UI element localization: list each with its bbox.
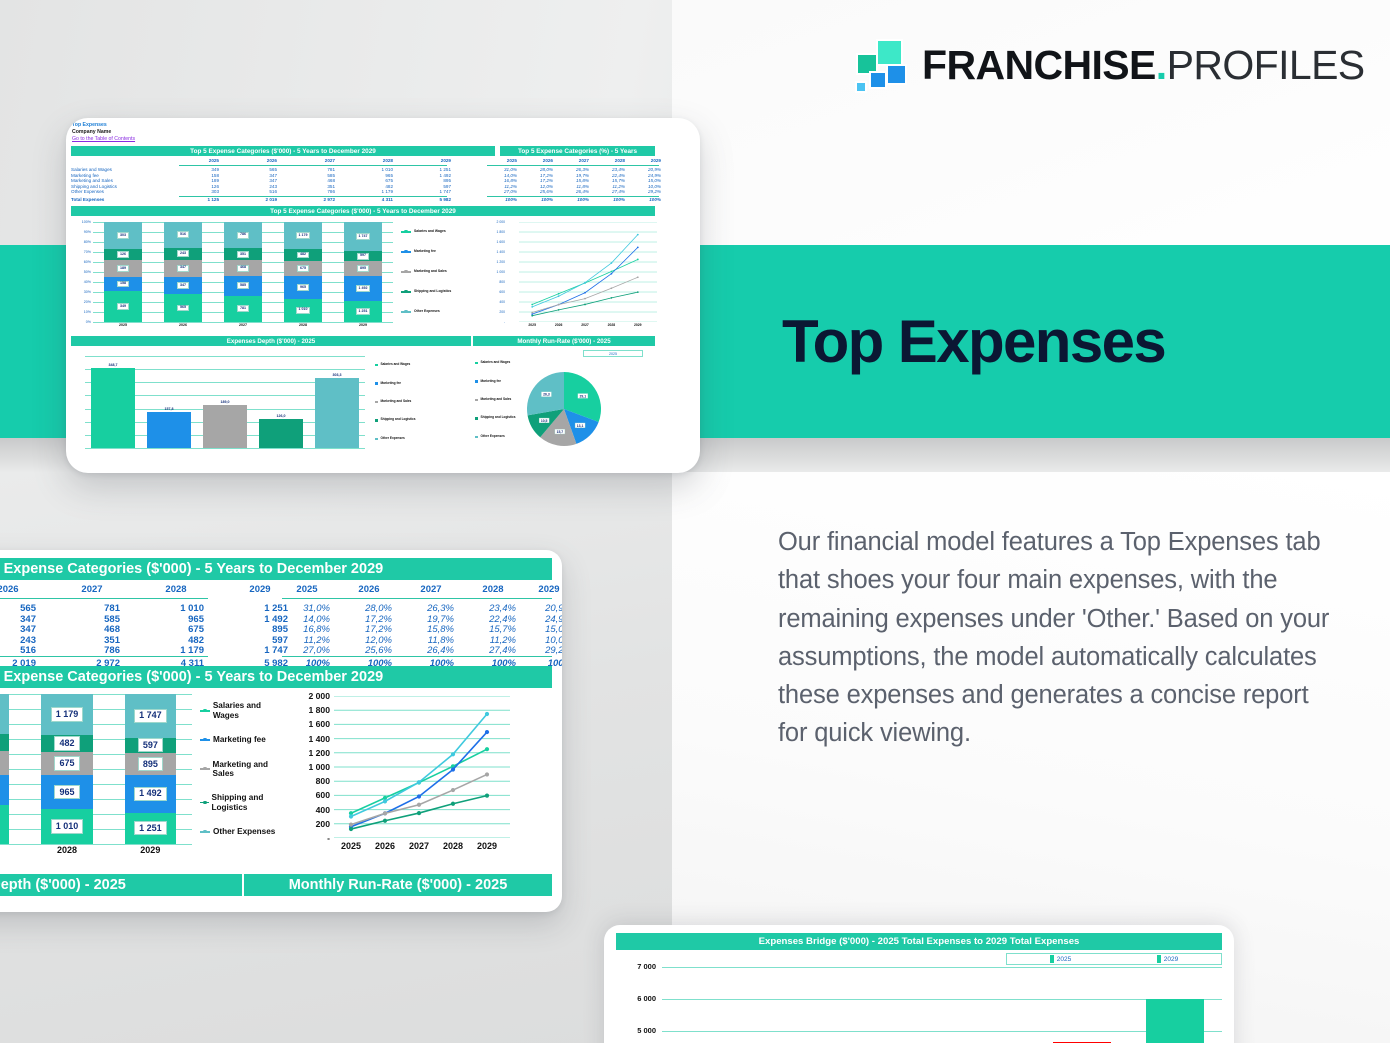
table-cell: 189 (183, 178, 219, 183)
expenses-bridge-waterfall-chart[interactable]: 7 0006 0005 0004 0009027064711 443 (616, 967, 1222, 1043)
svg-text:13,1: 13,1 (577, 424, 584, 428)
bar[interactable] (203, 405, 247, 448)
data-label: 349 (117, 303, 128, 310)
stack-segment: 781 (224, 296, 261, 322)
legend-item[interactable]: 2029 (1114, 954, 1221, 964)
legend-label: Shipping and Logistics (212, 793, 289, 812)
pct-cell: 17,2% (527, 178, 553, 183)
data-label: 597 (357, 253, 368, 260)
bar[interactable] (91, 368, 135, 448)
band-expenses-depth-zoom: ses Depth ($'000) - 2025 (0, 874, 242, 896)
data-label: 1 492 (356, 285, 370, 292)
x-tick-label: 2025 (524, 323, 540, 327)
y-tick-label: 400 (491, 300, 505, 304)
table-cell: 1 251 (415, 167, 451, 172)
column-group[interactable]: 1 2511 4928955971 747 (125, 694, 177, 844)
legend-item[interactable]: Salaries and Wages (375, 363, 465, 367)
legend-label: Other Expenses (414, 310, 440, 314)
x-tick-label: 2027 (213, 323, 273, 327)
legend-item[interactable]: Other Expenses (475, 435, 521, 439)
bar-data-label: 126,0 (253, 414, 309, 418)
stacked-column-chart-small[interactable]: 3491581891263035653473472435167815854683… (71, 218, 655, 334)
legend-label: Marketing fee (213, 735, 266, 744)
column-group[interactable]: 1 2511 4928955971 747 (344, 222, 381, 322)
table-cell: 516 (0, 645, 36, 656)
data-label: 565 (177, 305, 188, 312)
row-label: Marketing fee (71, 173, 171, 178)
column-header: 2025 (183, 158, 219, 163)
legend-label: Salaries and Wages (213, 701, 288, 720)
stack-segment: 1 492 (344, 276, 381, 301)
stack-segment: 516 (164, 222, 201, 248)
stack-segment: 482 (41, 735, 93, 752)
pct-cell: 15,7% (599, 178, 625, 183)
gridline (662, 999, 1222, 1000)
pct-column-header: 2027 (563, 158, 589, 163)
legend-item[interactable]: Other Expenses (401, 310, 491, 314)
table-cell: 1 747 (232, 645, 288, 656)
stack-segment: 565 (164, 294, 201, 322)
data-label: 1 492 (134, 787, 167, 801)
pct-cell: 15,0% (526, 624, 562, 635)
table-cell: 585 (299, 173, 335, 178)
y-tick-label: 1 800 (491, 230, 505, 234)
table-cell: 1 251 (232, 603, 288, 614)
column-group[interactable]: 349158189126303 (104, 222, 141, 322)
y-tick-label: 60% (77, 260, 91, 264)
pct-cell: 29,2% (526, 645, 562, 656)
column-group[interactable]: 781585468351786 (224, 222, 261, 322)
brand-logo: FRANCHISE.PROFILES (852, 38, 1365, 92)
column-header: 2029 (232, 584, 288, 595)
data-label: 482 (54, 736, 79, 750)
band-top5-table: Top 5 Expense Categories ($'000) - 5 Yea… (71, 146, 495, 156)
legend-label: Salaries and Wages (481, 361, 511, 365)
legend-swatch (475, 399, 478, 402)
brand-name-bold: FRANCHISE (922, 42, 1156, 88)
pct-cell: 16,8% (284, 624, 330, 635)
pct-cell: 25,6% (527, 189, 553, 194)
table-cell: 1 010 (357, 167, 393, 172)
y-tick-label: 1 000 (298, 762, 330, 772)
data-label: 965 (54, 785, 79, 799)
pct-cell: 11,2% (284, 635, 330, 646)
stack-segment: 189 (104, 260, 141, 277)
header-rule-pct (487, 165, 659, 166)
svg-text:10,5: 10,5 (541, 419, 548, 423)
data-label: 786 (237, 232, 248, 239)
data-label: 675 (54, 756, 79, 770)
table-cell: 675 (357, 178, 393, 183)
x-tick-label: 2027 (577, 323, 593, 327)
pct-cell: 26,4% (408, 645, 454, 656)
y-tick-label: - (298, 833, 330, 843)
expenses-depth-bar-chart-small[interactable]: 348,7157,8189,0126,0303,3Salaries and Wa… (71, 348, 471, 460)
table-cell: 351 (64, 635, 120, 646)
data-label: 597 (138, 738, 163, 752)
legend-item[interactable]: Shipping and Logistics (475, 416, 521, 420)
legend-label: Marketing and Sales (381, 400, 412, 404)
table-cell: 158 (183, 173, 219, 178)
stack-segment: 1 492 (125, 775, 177, 812)
pct-cell: 22,4% (599, 173, 625, 178)
band-expenses-bridge: Expenses Bridge ($'000) - 2025 Total Exp… (616, 933, 1222, 950)
legend-marker (200, 739, 210, 741)
pct-total-cell: 100% (527, 197, 553, 202)
data-label: 1 251 (356, 308, 370, 315)
table-cell: 303 (183, 189, 219, 194)
data-label: 965 (297, 284, 308, 291)
data-label: 895 (357, 265, 368, 272)
x-tick-label: 2029 (630, 323, 646, 327)
data-label: 585 (237, 282, 248, 289)
pct-cell: 10,0% (635, 184, 661, 189)
legend-swatch (375, 438, 378, 441)
pct-cell: 16,8% (491, 178, 517, 183)
pct-cell: 11,2% (470, 635, 516, 646)
table-cell: 243 (0, 635, 36, 646)
legend-item[interactable]: Other Expenses (375, 437, 465, 441)
sheet-header: Top Expenses Company Name Go to the Tabl… (72, 122, 135, 143)
pct-cell: 19,7% (563, 173, 589, 178)
pct-cell: 27,0% (491, 189, 517, 194)
table-cell: 243 (241, 184, 277, 189)
stack-segment: 895 (344, 261, 381, 276)
column-group[interactable]: 565347347243516 (164, 222, 201, 322)
y-tick-label: 2 000 (298, 691, 330, 701)
y-tick-label: 40% (77, 280, 91, 284)
legend-label: 2029 (1164, 956, 1178, 963)
legend-item[interactable]: Shipping and Logistics (401, 290, 491, 294)
column-group[interactable]: 781585468351786 (0, 694, 9, 844)
chart-legend: Salaries and WagesMarketing feeMarketing… (475, 354, 521, 446)
pct-column-header: 2025 (284, 584, 330, 595)
top5-table-zoom: 2026202720282029202520262027202820295657… (0, 584, 552, 660)
legend-marker (401, 251, 411, 253)
table-cell: 468 (64, 624, 120, 635)
legend-label: Other Expenses (213, 827, 275, 836)
table-cell: 349 (183, 167, 219, 172)
legend-swatch (475, 380, 478, 383)
column-header: 2026 (241, 158, 277, 163)
pct-cell: 31,0% (284, 603, 330, 614)
legend-item[interactable]: Marketing fee (475, 380, 521, 384)
y-tick-label: 600 (491, 290, 505, 294)
table-cell: 516 (241, 189, 277, 194)
x-tick-label: 2029 (109, 845, 192, 855)
brand-wordmark: FRANCHISE.PROFILES (922, 45, 1365, 86)
pct-cell: 17,2% (346, 624, 392, 635)
pct-total-cell: 100% (563, 197, 589, 202)
pct-cell: 15,8% (408, 624, 454, 635)
pct-cell: 26,3% (563, 167, 589, 172)
x-tick-label: 2028 (273, 323, 333, 327)
pct-total-cell: 100% (491, 197, 517, 202)
bar[interactable] (315, 378, 359, 448)
pct-cell: 23,4% (470, 603, 516, 614)
table-cell: 786 (64, 645, 120, 656)
table-cell: 565 (241, 167, 277, 172)
legend-item[interactable]: Marketing and Sales (475, 398, 521, 402)
y-tick-label: 90% (77, 230, 91, 234)
y-tick-label: 0% (77, 320, 91, 324)
screenshot-card-expenses-bridge[interactable]: Expenses Bridge ($'000) - 2025 Total Exp… (604, 925, 1234, 1043)
stack-segment: 468 (224, 260, 261, 276)
x-tick-label: 2028 (603, 323, 619, 327)
legend-marker (200, 768, 210, 770)
legend-swatch (475, 436, 478, 439)
table-cell: 1 010 (148, 603, 204, 614)
band-top5-percent: Top 5 Expense Categories (%) - 5 Years (500, 146, 655, 156)
y-tick-label: 400 (298, 805, 330, 815)
squares-mosaic-icon (852, 38, 908, 92)
pct-column-header: 2029 (635, 158, 661, 163)
data-label: 303 (117, 232, 128, 239)
data-label: 347 (177, 265, 188, 272)
data-label: 351 (237, 251, 248, 258)
pct-column-header: 2028 (470, 584, 516, 595)
legend-marker (200, 802, 209, 804)
pct-cell: 17,2% (527, 173, 553, 178)
header-rule (0, 598, 208, 599)
data-label: 1 179 (51, 707, 84, 721)
pct-cell: 17,2% (346, 614, 392, 625)
y-tick-label: 200 (491, 310, 505, 314)
y-tick-label: 1 200 (298, 748, 330, 758)
stack-segment: 597 (344, 251, 381, 261)
column-group[interactable]: 1 0109656754821 179 (284, 222, 321, 322)
page-title: Top Expenses (782, 312, 1165, 372)
data-label: 126 (117, 251, 128, 258)
y-tick-label: 70% (77, 250, 91, 254)
legend-item[interactable]: Shipping and Logistics (375, 418, 465, 422)
stack-segment: 781 (0, 805, 9, 844)
table-cell: 786 (299, 189, 335, 194)
pct-cell: 15,8% (563, 178, 589, 183)
column-header: 2028 (357, 158, 393, 163)
y-tick-label: 6 000 (616, 994, 656, 1003)
pct-cell: 26,3% (408, 603, 454, 614)
sheet-company: Company Name (72, 129, 135, 136)
legend-item[interactable]: Marketing and Sales (401, 270, 491, 274)
gridline (662, 967, 1222, 968)
stack-segment: 585 (0, 775, 9, 805)
runrate-year-tab: 2025 (583, 350, 643, 357)
pct-cell: 10,0% (526, 635, 562, 646)
total-cell: 5 982 (415, 197, 451, 202)
x-tick-label: 2029 (333, 323, 393, 327)
column-header: 2026 (0, 584, 36, 595)
pct-cell: 28,0% (527, 167, 553, 172)
pct-column-header: 2026 (527, 158, 553, 163)
pct-cell: 11,2% (491, 184, 517, 189)
pct-cell: 27,0% (284, 645, 330, 656)
data-label: 1 010 (51, 819, 84, 833)
band-expenses-depth: Expenses Depth ($'000) - 2025 (71, 336, 471, 346)
runrate-pie-chart-small[interactable]: 29,113,115,710,526,3Salaries and WagesMa… (473, 348, 655, 460)
gridline (662, 1031, 1222, 1032)
y-tick-label: 1 200 (491, 260, 505, 264)
legend-marker (401, 311, 411, 313)
y-tick-label: 1 600 (491, 240, 505, 244)
stack-segment: 895 (125, 753, 177, 775)
band-monthly-runrate: Monthly Run-Rate ($'000) - 2025 (473, 336, 655, 346)
pct-cell: 24,9% (635, 173, 661, 178)
stack-segment: 351 (224, 248, 261, 260)
legend-label: Other Expenses (481, 435, 505, 439)
legend-marker (401, 271, 411, 273)
y-tick-label: 80% (77, 240, 91, 244)
x-tick-label: 2027 (0, 845, 25, 855)
x-tick-label: 2029 (469, 841, 505, 851)
stack-segment: 351 (0, 734, 9, 752)
stack-segment: 1 179 (284, 222, 321, 249)
pct-column-header: 2026 (346, 584, 392, 595)
stack-segment: 1 179 (41, 694, 93, 735)
legend-item[interactable]: Salaries and Wages (475, 361, 521, 365)
bar[interactable] (147, 412, 191, 448)
runrate-line-chart-small[interactable] (507, 222, 657, 322)
legend-marker (401, 231, 411, 233)
total-cell: 1 125 (183, 197, 219, 202)
table-cell: 347 (241, 178, 277, 183)
legend-label: Shipping and Logistics (381, 418, 416, 422)
pct-column-header: 2025 (491, 158, 517, 163)
legend-marker (200, 831, 210, 833)
table-cell: 781 (64, 603, 120, 614)
stack-segment: 349 (104, 291, 141, 322)
legend-marker (401, 291, 411, 293)
legend-item[interactable]: Salaries and Wages (200, 701, 288, 720)
brand-name-light: PROFILES (1167, 42, 1365, 88)
stack-segment: 1 010 (41, 809, 93, 844)
stack-segment: 347 (164, 277, 201, 294)
toc-link[interactable]: Go to the Table of Contents (72, 136, 135, 143)
screenshot-card-top-expenses[interactable]: Top Expenses Company Name Go to the Tabl… (66, 118, 700, 473)
y-tick-label: 100% (77, 220, 91, 224)
column-header: 2029 (415, 158, 451, 163)
y-tick-label: 1 000 (491, 270, 505, 274)
pct-column-header: 2029 (526, 584, 562, 595)
stack-segment: 1 747 (344, 222, 381, 251)
stacked-chart-zoom[interactable]: 7815854683517861 0109656754821 1791 2511… (0, 690, 292, 870)
x-tick-label: 2026 (551, 323, 567, 327)
legend-item[interactable]: Marketing fee (375, 382, 465, 386)
legend-item[interactable]: Marketing fee (200, 735, 288, 744)
x-tick-label: 2028 (435, 841, 471, 851)
legend-swatch (1050, 955, 1054, 963)
legend-label: Shipping and Logistics (481, 416, 516, 420)
legend-label: Other Expenses (381, 437, 405, 441)
charts-zoom[interactable]: 7815854683517861 0109656754821 1791 2511… (0, 690, 552, 870)
pct-cell: 11,8% (563, 184, 589, 189)
runrate-line-chart-zoom[interactable] (300, 696, 510, 838)
legend-item[interactable]: Other Expenses (200, 827, 288, 836)
y-tick-label: 1 600 (298, 719, 330, 729)
stack-segment: 126 (104, 249, 141, 260)
legend-item[interactable]: Salaries and Wages (401, 230, 491, 234)
legend-label: Shipping and Logistics (414, 290, 451, 294)
legend-item[interactable]: Shipping and Logistics (200, 793, 288, 812)
table-cell: 565 (0, 603, 36, 614)
stack-segment: 786 (0, 694, 9, 734)
column-group[interactable]: 1 0109656754821 179 (41, 694, 93, 844)
total-cell: 4 311 (357, 197, 393, 202)
table-cell: 895 (415, 178, 451, 183)
legend-item[interactable]: 2025 (1007, 954, 1114, 964)
pct-cell: 20,9% (635, 167, 661, 172)
table-cell: 482 (357, 184, 393, 189)
y-tick-label: 30% (77, 290, 91, 294)
pct-cell: 20,9% (526, 603, 562, 614)
svg-text:29,1: 29,1 (580, 394, 587, 398)
legend-item[interactable]: Marketing and Sales (200, 760, 288, 779)
stack-segment: 965 (41, 775, 93, 809)
stack-segment: 1 251 (344, 301, 381, 322)
legend-item[interactable]: Marketing fee (401, 250, 491, 254)
band-monthly-runrate-zoom: Monthly Run-Rate ($'000) - 2025 (244, 874, 552, 896)
legend-item[interactable]: Marketing and Sales (375, 400, 465, 404)
data-label: 1 747 (134, 709, 167, 723)
pct-cell: 28,0% (346, 603, 392, 614)
data-label: 158 (117, 281, 128, 288)
svg-text:26,3: 26,3 (543, 393, 550, 397)
chart-legend: Salaries and WagesMarketing feeMarketing… (375, 356, 465, 448)
bar[interactable] (259, 419, 303, 448)
legend-swatch (375, 382, 378, 385)
legend-label: Marketing and Sales (414, 270, 447, 274)
column-header: 2028 (148, 584, 204, 595)
table-cell: 347 (0, 624, 36, 635)
waterfall-bar[interactable] (1146, 999, 1204, 1043)
legend-label: Salaries and Wages (414, 230, 446, 234)
total-cell: 2 972 (299, 197, 335, 202)
pct-cell: 26,4% (563, 189, 589, 194)
pct-column-header: 2027 (408, 584, 454, 595)
header-rule-pct (282, 598, 552, 599)
stack-segment: 158 (104, 277, 141, 291)
y-tick-label: 1 400 (298, 734, 330, 744)
table-cell: 351 (299, 184, 335, 189)
data-label: 1 179 (296, 232, 310, 239)
pct-cell: 11,2% (599, 184, 625, 189)
total-row-label: Total Expenses (71, 197, 171, 202)
table-cell: 965 (148, 614, 204, 625)
table-cell: 347 (0, 614, 36, 625)
data-label: 1 747 (356, 233, 370, 240)
chart-legend: Salaries and WagesMarketing feeMarketing… (200, 694, 288, 844)
bridge-legend[interactable]: 20252029 (1006, 953, 1222, 965)
data-label: 468 (237, 265, 248, 272)
data-label: 1 010 (296, 307, 310, 314)
legend-swatch (375, 401, 378, 404)
legend-swatch (375, 419, 378, 422)
stack-segment: 243 (164, 248, 201, 260)
bar-data-label: 189,0 (197, 400, 253, 404)
pct-cell: 22,4% (470, 614, 516, 625)
screenshot-card-categories-zoom[interactable]: Top 5 Expense Categories ($'000) - 5 Yea… (0, 550, 562, 912)
runrate-pie[interactable]: 29,113,115,710,526,3 (525, 370, 603, 448)
pct-cell: 19,7% (408, 614, 454, 625)
pct-column-header: 2028 (599, 158, 625, 163)
x-tick-label: 2026 (367, 841, 403, 851)
y-tick-label: - (491, 320, 505, 324)
stack-segment: 1 010 (284, 299, 321, 322)
stack-segment: 1 747 (125, 694, 177, 738)
table-cell: 1 747 (415, 189, 451, 194)
plot-area: 3491581891263035653473472435167815854683… (93, 222, 393, 322)
y-tick-label: 7 000 (616, 962, 656, 971)
